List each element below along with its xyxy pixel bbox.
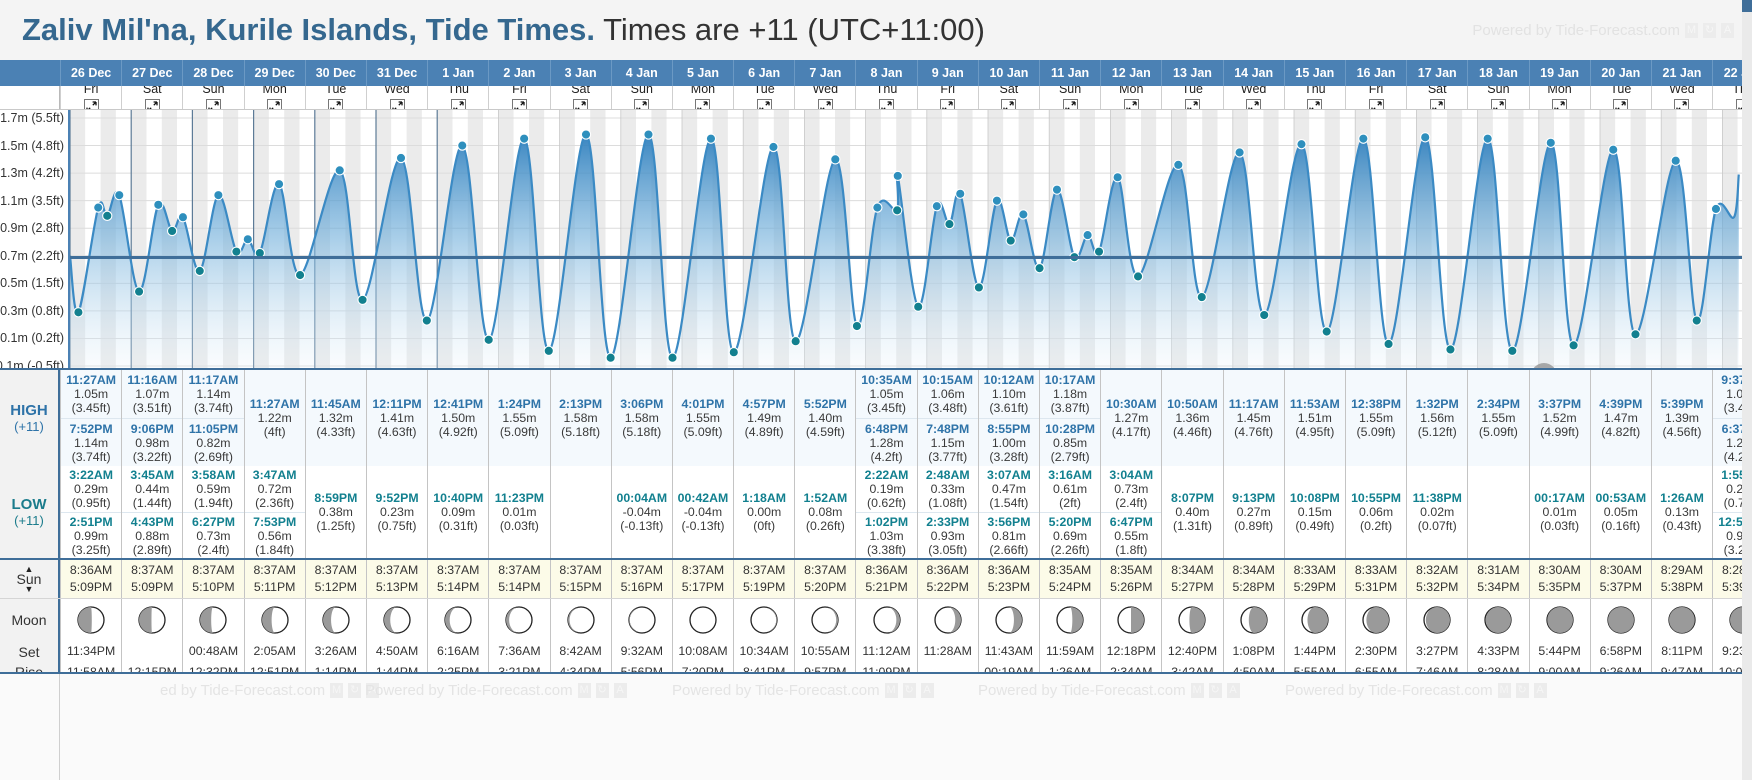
tide-point-high-3[interactable] bbox=[115, 191, 124, 200]
low-tide-time: 2:22AM bbox=[865, 468, 909, 482]
y-axis-tick-4: 0.9m (2.8ft) bbox=[0, 221, 64, 235]
high-tide-time: 3:06PM bbox=[620, 397, 663, 411]
low-tide-feet: (-0.13ft) bbox=[620, 519, 663, 533]
high-tide-event: 11:17AM1.45m(4.76ft) bbox=[1224, 370, 1284, 466]
sun-cell-14: 8:36AM5:22PM bbox=[917, 560, 978, 598]
tide-point-low-16[interactable] bbox=[358, 295, 367, 304]
high-tide-feet: (3.51ft) bbox=[133, 401, 172, 415]
tide-point-low-0[interactable] bbox=[74, 308, 83, 317]
tide-point-low-30[interactable] bbox=[791, 337, 800, 346]
high-tide-feet: (4.82ft) bbox=[1601, 425, 1640, 439]
tide-point-low-58[interactable] bbox=[1384, 339, 1393, 348]
sun-row: ▲ Sun ▼ 8:36AM5:09PM8:37AM5:09PM8:37AM5:… bbox=[0, 558, 1752, 598]
tide-point-high-37[interactable] bbox=[932, 202, 941, 211]
day-of-week-4: Tue bbox=[305, 86, 366, 109]
tide-point-high-7[interactable] bbox=[178, 213, 187, 222]
expand-day-icon[interactable] bbox=[390, 99, 405, 110]
moonset-time: 00:48AM bbox=[189, 641, 238, 662]
high-tide-cell-10: 4:01PM1.55m(5.09ft) bbox=[672, 370, 733, 466]
watermark-icon-a: A bbox=[614, 683, 627, 698]
sunset-time: 5:13PM bbox=[376, 579, 418, 596]
low-tide-feet: (1.8ft) bbox=[1115, 543, 1147, 557]
tide-point-high-55[interactable] bbox=[1297, 140, 1306, 149]
low-tide-meters: 0.38m bbox=[319, 505, 353, 519]
expand-day-icon[interactable] bbox=[451, 99, 466, 110]
watermark-bottom-3: Powered by Tide-Forecast.com M ↻ A bbox=[672, 682, 934, 699]
high-tide-feet: (5.09ft) bbox=[1479, 425, 1518, 439]
expand-day-icon[interactable] bbox=[1185, 99, 1200, 110]
moonset-time: 7:36AM bbox=[498, 641, 540, 662]
expand-day-icon[interactable] bbox=[512, 99, 527, 110]
watermark-top-text: Powered by Tide-Forecast.com bbox=[1472, 22, 1680, 39]
low-tide-time: 3:45AM bbox=[130, 468, 174, 482]
sunrise-time: 8:37AM bbox=[621, 562, 663, 579]
high-tide-feet: (2.79ft) bbox=[1051, 450, 1090, 464]
expand-day-icon[interactable] bbox=[328, 99, 343, 110]
y-axis-tick-0: 1.7m (5.5ft) bbox=[0, 111, 64, 125]
tide-point-high-63[interactable] bbox=[1546, 138, 1555, 147]
high-tide-time: 10:30AM bbox=[1106, 397, 1157, 411]
tide-point-high-23[interactable] bbox=[581, 130, 590, 139]
day-date-3: 29 Dec bbox=[244, 60, 305, 86]
tide-point-high-61[interactable] bbox=[1483, 134, 1492, 143]
tide-point-low-20[interactable] bbox=[484, 335, 493, 344]
sun-cell-25: 8:30AM5:37PM bbox=[1590, 560, 1651, 598]
low-tide-cell-23 bbox=[1467, 466, 1528, 558]
tide-point-high-27[interactable] bbox=[706, 134, 715, 143]
tide-point-high-41[interactable] bbox=[992, 196, 1001, 205]
y-axis-tick-7: 0.3m (0.8ft) bbox=[0, 304, 64, 318]
day-date-24: 19 Jan bbox=[1529, 60, 1590, 86]
low-tide-time: 10:40PM bbox=[433, 491, 483, 505]
day-of-week-label: Fri bbox=[1369, 86, 1384, 96]
expand-day-icon[interactable] bbox=[1124, 99, 1139, 110]
moonset-time: 11:28AM bbox=[924, 641, 972, 662]
tide-point-high-49[interactable] bbox=[1113, 173, 1122, 182]
tide-point-high-45[interactable] bbox=[1052, 185, 1061, 194]
low-tide-feet: (3.05ft) bbox=[928, 543, 967, 557]
tide-point-low-32[interactable] bbox=[852, 321, 861, 330]
low-tide-cell-20: 10:08PM0.15m(0.49ft) bbox=[1284, 466, 1345, 558]
tide-point-low-18[interactable] bbox=[422, 316, 431, 325]
tide-point-high-65[interactable] bbox=[1609, 145, 1618, 154]
high-tide-meters: 1.32m bbox=[319, 411, 353, 425]
day-of-week-label: Mon bbox=[262, 86, 286, 96]
high-tide-cell-22: 1:32PM1.56m(5.12ft) bbox=[1406, 370, 1467, 466]
sunrise-time: 8:36AM bbox=[865, 562, 907, 579]
low-tide-feet: (0.2ft) bbox=[1360, 519, 1392, 533]
expand-day-icon[interactable] bbox=[573, 99, 588, 110]
expand-day-icon[interactable] bbox=[940, 99, 955, 110]
high-tide-time: 10:28PM bbox=[1045, 422, 1095, 436]
day-date-20: 15 Jan bbox=[1284, 60, 1345, 86]
tide-point-low-24[interactable] bbox=[606, 353, 615, 362]
tide-point-low-54[interactable] bbox=[1260, 310, 1269, 319]
expand-day-icon[interactable] bbox=[1491, 99, 1506, 110]
expand-day-icon[interactable] bbox=[879, 99, 894, 110]
low-tide-time: 4:43PM bbox=[131, 515, 174, 529]
high-tide-meters: 1.07m bbox=[135, 387, 169, 401]
sunrise-time: 8:33AM bbox=[1355, 562, 1397, 579]
expand-day-icon[interactable] bbox=[818, 99, 833, 110]
day-date-26: 21 Jan bbox=[1651, 60, 1712, 86]
moonset-time: 2:05AM bbox=[253, 641, 295, 662]
tide-point-low-10[interactable] bbox=[232, 247, 241, 256]
expand-day-icon[interactable] bbox=[634, 99, 649, 110]
day-of-week-label: Mon bbox=[1119, 86, 1143, 96]
tide-point-high-59[interactable] bbox=[1421, 133, 1430, 142]
moonset-time: 11:12AM bbox=[862, 641, 910, 662]
high-tide-time: 2:13PM bbox=[559, 397, 602, 411]
high-tide-feet: (3.77ft) bbox=[928, 450, 967, 464]
tide-point-high-29[interactable] bbox=[769, 142, 778, 151]
low-tide-cell-14: 2:48AM0.33m(1.08ft)2:33PM0.93m(3.05ft) bbox=[917, 466, 978, 558]
sun-cell-2: 8:37AM5:10PM bbox=[182, 560, 243, 598]
high-tide-meters: 1.15m bbox=[931, 436, 965, 450]
high-tide-feet: (5.09ft) bbox=[1357, 425, 1396, 439]
low-tide-feet: (2ft) bbox=[1059, 496, 1081, 510]
low-tide-feet: (1.94ft) bbox=[194, 496, 233, 510]
tide-point-high-11[interactable] bbox=[243, 235, 252, 244]
tide-point-low-50[interactable] bbox=[1133, 272, 1142, 281]
moon-phase-icon-24 bbox=[1529, 599, 1590, 640]
tide-point-high-53[interactable] bbox=[1235, 148, 1244, 157]
low-tide-event: 2:22AM0.19m(0.62ft) bbox=[856, 466, 916, 512]
tide-point-low-40[interactable] bbox=[974, 283, 983, 292]
moon-phase-icon-0 bbox=[60, 599, 121, 640]
low-tide-event: 7:53PM0.56m(1.84ft) bbox=[245, 512, 305, 558]
moonset-time: 1:44PM bbox=[1294, 641, 1336, 662]
expand-day-icon[interactable] bbox=[1307, 99, 1322, 110]
high-tide-event: 10:28PM0.85m(2.79ft) bbox=[1040, 418, 1100, 466]
expand-day-icon[interactable] bbox=[145, 99, 160, 110]
tide-point-low-48[interactable] bbox=[1094, 247, 1103, 256]
high-tide-feet: (3.87ft) bbox=[1051, 401, 1090, 415]
vertical-scrollbar[interactable] bbox=[1742, 0, 1752, 780]
high-tide-meters: 1.40m bbox=[808, 411, 842, 425]
tide-point-low-34[interactable] bbox=[893, 206, 902, 215]
low-tide-meters: 0.15m bbox=[1298, 505, 1332, 519]
high-tide-row-label: HIGH (+11) bbox=[0, 370, 60, 466]
sunrise-time: 8:36AM bbox=[70, 562, 112, 579]
chart-plot-area[interactable] bbox=[70, 110, 1752, 368]
tide-point-high-51[interactable] bbox=[1174, 160, 1183, 169]
watermark-bottom-4: Powered by Tide-Forecast.com M ↻ A bbox=[978, 682, 1240, 699]
sunrise-time: 8:36AM bbox=[988, 562, 1030, 579]
low-tide-event: 3:47AM0.72m(2.36ft) bbox=[245, 466, 305, 512]
low-tide-meters: 0.09m bbox=[441, 505, 475, 519]
tide-point-high-5[interactable] bbox=[154, 200, 163, 209]
high-tide-event: 6:48PM1.28m(4.2ft) bbox=[856, 418, 916, 466]
watermark-bottom-5-text: Powered by Tide-Forecast.com bbox=[1285, 682, 1493, 699]
moonset-label: Set bbox=[18, 642, 39, 662]
tide-point-high-25[interactable] bbox=[644, 130, 653, 139]
high-tide-event: 11:05PM0.82m(2.69ft) bbox=[183, 418, 243, 466]
moonset-time: 3:26AM bbox=[315, 641, 357, 662]
high-tide-time: 7:48PM bbox=[926, 422, 969, 436]
day-of-week-6: Thu bbox=[427, 86, 488, 109]
high-tide-cell-19: 11:17AM1.45m(4.76ft) bbox=[1223, 370, 1284, 466]
tide-point-high-33[interactable] bbox=[873, 203, 882, 212]
high-tide-time: 11:17AM bbox=[1229, 397, 1279, 411]
expand-day-icon[interactable] bbox=[695, 99, 710, 110]
moon-phase-icon-2 bbox=[182, 599, 243, 640]
tide-point-high-15[interactable] bbox=[335, 166, 344, 175]
expand-day-icon[interactable] bbox=[1063, 99, 1078, 110]
tide-point-high-47[interactable] bbox=[1083, 231, 1092, 240]
low-tide-time: 2:48AM bbox=[926, 468, 970, 482]
sun-cell-23: 8:31AM5:34PM bbox=[1467, 560, 1528, 598]
high-tide-meters: 0.98m bbox=[135, 436, 169, 450]
tide-point-high-9[interactable] bbox=[214, 191, 223, 200]
low-tide-meters: -0.04m bbox=[623, 505, 661, 519]
day-of-week-7: Fri bbox=[488, 86, 549, 109]
low-tide-event: 3:56PM0.81m(2.66ft) bbox=[979, 512, 1039, 558]
high-tide-time: 5:52PM bbox=[804, 397, 847, 411]
low-tide-meters: 0.00m bbox=[747, 505, 781, 519]
watermark-icon-m: M bbox=[885, 683, 898, 698]
tide-point-low-56[interactable] bbox=[1322, 327, 1331, 336]
expand-day-icon[interactable] bbox=[1430, 99, 1445, 110]
low-tide-time: 10:08PM bbox=[1290, 491, 1340, 505]
low-tide-event: 3:04AM0.73m(2.4ft) bbox=[1101, 466, 1161, 512]
high-tide-meters: 1.05m bbox=[74, 387, 108, 401]
sunrise-time: 8:30AM bbox=[1600, 562, 1642, 579]
expand-day-icon[interactable] bbox=[1613, 99, 1628, 110]
high-tide-feet: (5.09ft) bbox=[500, 425, 539, 439]
sunrise-time: 8:37AM bbox=[253, 562, 295, 579]
day-date-10: 5 Jan bbox=[672, 60, 733, 86]
watermark-bottom-1: ed by Tide-Forecast.com M ↻ A bbox=[160, 682, 379, 699]
tide-point-low-2[interactable] bbox=[103, 211, 112, 220]
sunset-time: 5:32PM bbox=[1416, 579, 1458, 596]
sunset-time: 5:10PM bbox=[192, 579, 234, 596]
day-date-22: 17 Jan bbox=[1406, 60, 1467, 86]
scrollbar-thumb[interactable] bbox=[1742, 0, 1752, 12]
title-bar: Zaliv Mil'na, Kurile Islands, Tide Times… bbox=[0, 0, 1752, 60]
tide-point-high-17[interactable] bbox=[396, 153, 405, 162]
day-of-week-label: Wed bbox=[813, 86, 838, 96]
tide-point-high-67[interactable] bbox=[1671, 156, 1680, 165]
moon-phase-icon-18 bbox=[1161, 599, 1222, 640]
tide-point-low-66[interactable] bbox=[1631, 330, 1640, 339]
day-of-week-21: Fri bbox=[1345, 86, 1406, 109]
moon-row-label: Moon bbox=[0, 599, 60, 640]
expand-day-icon[interactable] bbox=[1674, 99, 1689, 110]
moon-phase-icon-12 bbox=[794, 599, 855, 640]
tide-point-high-69[interactable] bbox=[1711, 204, 1720, 213]
low-tide-event: 2:51PM0.99m(3.25ft) bbox=[61, 512, 121, 558]
expand-day-icon[interactable] bbox=[267, 99, 282, 110]
tide-point-high-13[interactable] bbox=[274, 180, 283, 189]
tide-point-low-26[interactable] bbox=[668, 353, 677, 362]
low-tide-cell-5: 9:52PM0.23m(0.75ft) bbox=[366, 466, 427, 558]
high-tide-time: 11:17AM bbox=[189, 373, 239, 387]
tide-point-low-28[interactable] bbox=[729, 348, 738, 357]
low-tide-cell-24: 00:17AM0.01m(0.03ft) bbox=[1529, 466, 1590, 558]
expand-day-icon[interactable] bbox=[1001, 99, 1016, 110]
tide-point-high-35[interactable] bbox=[893, 171, 902, 180]
sunrise-time: 8:37AM bbox=[131, 562, 173, 579]
tide-point-high-31[interactable] bbox=[831, 155, 840, 164]
high-tide-event: 11:27AM1.05m(3.45ft) bbox=[61, 370, 121, 418]
high-tide-cell-25: 4:39PM1.47m(4.82ft) bbox=[1590, 370, 1651, 466]
low-tide-time: 3:47AM bbox=[253, 468, 297, 482]
tide-point-low-62[interactable] bbox=[1508, 346, 1517, 355]
day-of-week-label: Sat bbox=[1000, 86, 1019, 96]
expand-day-icon[interactable] bbox=[1369, 99, 1384, 110]
tide-point-high-21[interactable] bbox=[520, 134, 529, 143]
sunrise-time: 8:31AM bbox=[1477, 562, 1519, 579]
sun-cell-10: 8:37AM5:17PM bbox=[672, 560, 733, 598]
tide-point-low-44[interactable] bbox=[1035, 264, 1044, 273]
day-date-17: 12 Jan bbox=[1100, 60, 1161, 86]
low-tide-time: 1:52AM bbox=[803, 491, 847, 505]
page-title-timezone: Times are +11 (UTC+11:00) bbox=[603, 12, 985, 47]
low-tide-event: 10:55PM0.06m(0.2ft) bbox=[1346, 466, 1406, 558]
low-tide-event: 2:33PM0.93m(3.05ft) bbox=[918, 512, 978, 558]
tide-curve-svg bbox=[70, 110, 1752, 368]
high-tide-time: 10:50AM bbox=[1167, 397, 1218, 411]
sun-cell-12: 8:37AM5:20PM bbox=[794, 560, 855, 598]
high-tide-event: 11:53AM1.51m(4.95ft) bbox=[1285, 370, 1345, 466]
watermark-icon-refresh: ↻ bbox=[1516, 683, 1529, 698]
expand-day-icon[interactable] bbox=[1246, 99, 1261, 110]
low-tide-time: 11:38PM bbox=[1413, 491, 1462, 505]
sun-cell-18: 8:34AM5:27PM bbox=[1161, 560, 1222, 598]
low-tide-event: 11:38PM0.02m(0.07ft) bbox=[1407, 466, 1467, 558]
tide-point-low-22[interactable] bbox=[544, 346, 553, 355]
low-tide-feet: (0ft) bbox=[753, 519, 775, 533]
day-of-week-label: Wed bbox=[1241, 86, 1266, 96]
tide-point-low-60[interactable] bbox=[1446, 345, 1455, 354]
tide-point-high-43[interactable] bbox=[1019, 210, 1028, 219]
low-tide-cell-2: 3:58AM0.59m(1.94ft)6:27PM0.73m(2.4ft) bbox=[182, 466, 243, 558]
low-tide-meters: 0.81m bbox=[992, 529, 1026, 543]
sun-cell-20: 8:33AM5:29PM bbox=[1284, 560, 1345, 598]
high-tide-cell-17: 10:30AM1.27m(4.17ft) bbox=[1100, 370, 1161, 466]
moonset-time: 2:30PM bbox=[1355, 641, 1397, 662]
tide-point-high-39[interactable] bbox=[956, 189, 965, 198]
tide-point-low-8[interactable] bbox=[195, 266, 204, 275]
day-date-23: 18 Jan bbox=[1467, 60, 1528, 86]
watermark-top: Powered by Tide-Forecast.com M ↻ A bbox=[1472, 22, 1734, 39]
high-tide-time: 11:53AM bbox=[1290, 397, 1340, 411]
high-tide-time: 11:16AM bbox=[127, 373, 177, 387]
low-tide-time: 3:22AM bbox=[69, 468, 113, 482]
moonset-time: 9:32AM bbox=[621, 641, 663, 662]
low-tide-event: 6:47PM0.55m(1.8ft) bbox=[1101, 512, 1161, 558]
moonset-time: 8:42AM bbox=[559, 641, 601, 662]
high-tide-event: 2:13PM1.58m(5.18ft) bbox=[551, 370, 611, 466]
watermark-icon-m: M bbox=[1685, 23, 1698, 38]
day-of-week-label: Mon bbox=[691, 86, 715, 96]
high-tide-time: 10:12AM bbox=[984, 373, 1035, 387]
sun-cell-11: 8:37AM5:19PM bbox=[733, 560, 794, 598]
tide-point-high-1[interactable] bbox=[94, 203, 103, 212]
high-tide-feet: (4.59ft) bbox=[806, 425, 845, 439]
sunset-time: 5:14PM bbox=[498, 579, 540, 596]
low-tide-time: 9:13PM bbox=[1232, 491, 1275, 505]
day-of-week-label: Thu bbox=[447, 86, 469, 96]
tide-point-low-14[interactable] bbox=[295, 270, 304, 279]
low-tide-cell-1: 3:45AM0.44m(1.44ft)4:43PM0.88m(2.89ft) bbox=[121, 466, 182, 558]
day-of-week-label: Sun bbox=[1487, 86, 1509, 96]
sunrise-time: 8:34AM bbox=[1232, 562, 1274, 579]
sun-cell-17: 8:35AM5:26PM bbox=[1100, 560, 1161, 598]
expand-day-icon[interactable] bbox=[206, 99, 221, 110]
high-tide-time: 6:48PM bbox=[865, 422, 908, 436]
high-tide-cell-11: 4:57PM1.49m(4.89ft) bbox=[733, 370, 794, 466]
low-tide-time: 9:52PM bbox=[376, 491, 419, 505]
sun-cell-6: 8:37AM5:14PM bbox=[427, 560, 488, 598]
low-tide-row-label: LOW (+11) bbox=[0, 466, 60, 558]
low-tide-event: 4:43PM0.88m(2.89ft) bbox=[122, 512, 182, 558]
day-of-week-header-row: FriSatSunMonTueWedThuFriSatSunMonTueWedT… bbox=[0, 86, 1752, 110]
tide-point-low-52[interactable] bbox=[1197, 293, 1206, 302]
low-tide-feet: (1.44ft) bbox=[133, 496, 172, 510]
high-tide-feet: (4.2ft) bbox=[870, 450, 902, 464]
expand-day-icon[interactable] bbox=[757, 99, 772, 110]
day-date-14: 9 Jan bbox=[917, 60, 978, 86]
sunrise-time: 8:37AM bbox=[437, 562, 479, 579]
low-tide-meters: 0.08m bbox=[808, 505, 842, 519]
low-tide-time: 6:47PM bbox=[1110, 515, 1153, 529]
low-tide-meters: 0.88m bbox=[135, 529, 169, 543]
tide-point-low-64[interactable] bbox=[1569, 341, 1578, 350]
day-of-week-label: Sun bbox=[202, 86, 224, 96]
tide-point-high-57[interactable] bbox=[1359, 134, 1368, 143]
expand-day-icon[interactable] bbox=[84, 99, 99, 110]
day-date-0: 26 Dec bbox=[60, 60, 121, 86]
tide-point-low-68[interactable] bbox=[1692, 316, 1701, 325]
tide-point-low-36[interactable] bbox=[914, 302, 923, 311]
sun-cell-5: 8:37AM5:13PM bbox=[366, 560, 427, 598]
low-tide-time: 00:04AM bbox=[616, 491, 667, 505]
moonset-time: 4:33PM bbox=[1477, 641, 1519, 662]
low-tide-meters: 0.73m bbox=[196, 529, 230, 543]
tide-point-high-19[interactable] bbox=[458, 141, 467, 150]
tide-point-low-42[interactable] bbox=[1006, 236, 1015, 245]
moonset-time: 1:08PM bbox=[1232, 641, 1274, 662]
day-of-week-5: Wed bbox=[366, 86, 427, 109]
low-tide-event: 3:16AM0.61m(2ft) bbox=[1040, 466, 1100, 512]
day-of-week-8: Sat bbox=[550, 86, 611, 109]
low-tide-meters: 0.59m bbox=[196, 482, 230, 496]
expand-day-icon[interactable] bbox=[1552, 99, 1567, 110]
high-tide-cell-8: 2:13PM1.58m(5.18ft) bbox=[550, 370, 611, 466]
high-tide-event: 12:38PM1.55m(5.09ft) bbox=[1346, 370, 1406, 466]
low-tide-event: 3:58AM0.59m(1.94ft) bbox=[183, 466, 243, 512]
moon-phase-icon-22 bbox=[1406, 599, 1467, 640]
tide-point-low-38[interactable] bbox=[945, 219, 954, 228]
low-tide-feet: (-0.13ft) bbox=[681, 519, 724, 533]
sunrise-time: 8:37AM bbox=[743, 562, 785, 579]
low-tide-meters: 0.93m bbox=[931, 529, 965, 543]
sunrise-time: 8:29AM bbox=[1661, 562, 1703, 579]
high-tide-feet: (4.92ft) bbox=[439, 425, 478, 439]
tide-point-low-4[interactable] bbox=[134, 287, 143, 296]
day-of-week-17: Mon bbox=[1100, 86, 1161, 109]
low-tide-event: 00:42AM-0.04m(-0.13ft) bbox=[673, 466, 733, 558]
moon-phase-icon-21 bbox=[1345, 599, 1406, 640]
sunrise-time: 8:37AM bbox=[682, 562, 724, 579]
high-tide-meters: 1.55m bbox=[686, 411, 720, 425]
day-of-week-24: Mon bbox=[1529, 86, 1590, 109]
moon-phase-icon-23 bbox=[1467, 599, 1528, 640]
high-tide-event: 10:17AM1.18m(3.87ft) bbox=[1040, 370, 1100, 418]
tide-point-low-6[interactable] bbox=[168, 226, 177, 235]
